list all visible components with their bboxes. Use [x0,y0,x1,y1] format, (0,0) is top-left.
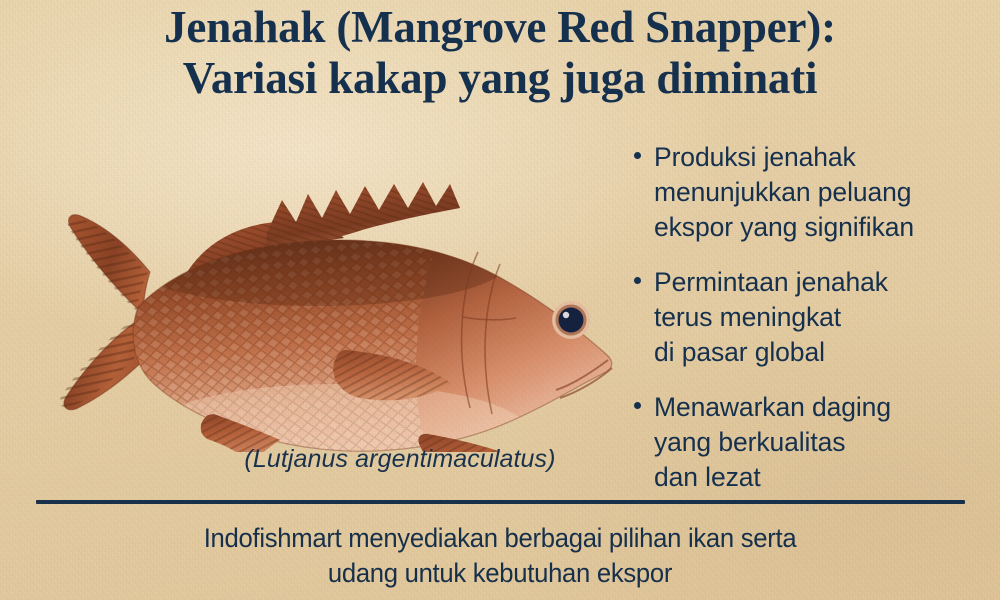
bullet-dot-icon [634,152,641,159]
fish-eye [552,301,590,339]
bullet-dot-icon [634,402,641,409]
list-item-label: Produksi jenahak menunjukkan peluang eks… [654,142,914,242]
fish-image [8,122,628,452]
scientific-name-caption: (Lutjanus argentimaculatus) [120,445,680,474]
benefits-list: Produksi jenahak menunjukkan peluang eks… [628,140,988,495]
footer-text: Indofishmart menyediakan berbagai piliha… [25,521,975,591]
page-title: Jenahak (Mangrove Red Snapper): Variasi … [0,2,1000,104]
fish-illustration [8,122,628,452]
list-item: Permintaan jenahak terus meningkat di pa… [628,265,988,370]
bullet-dot-icon [634,277,641,284]
list-item-label: Permintaan jenahak terus meningkat di pa… [654,267,888,367]
list-item: Menawarkan daging yang berkualitas dan l… [628,390,988,495]
poster-canvas: Jenahak (Mangrove Red Snapper): Variasi … [0,0,1000,600]
fish-body [118,218,614,452]
list-item-label: Menawarkan daging yang berkualitas dan l… [654,392,891,492]
list-item: Produksi jenahak menunjukkan peluang eks… [628,140,988,245]
horizontal-divider [36,500,965,504]
